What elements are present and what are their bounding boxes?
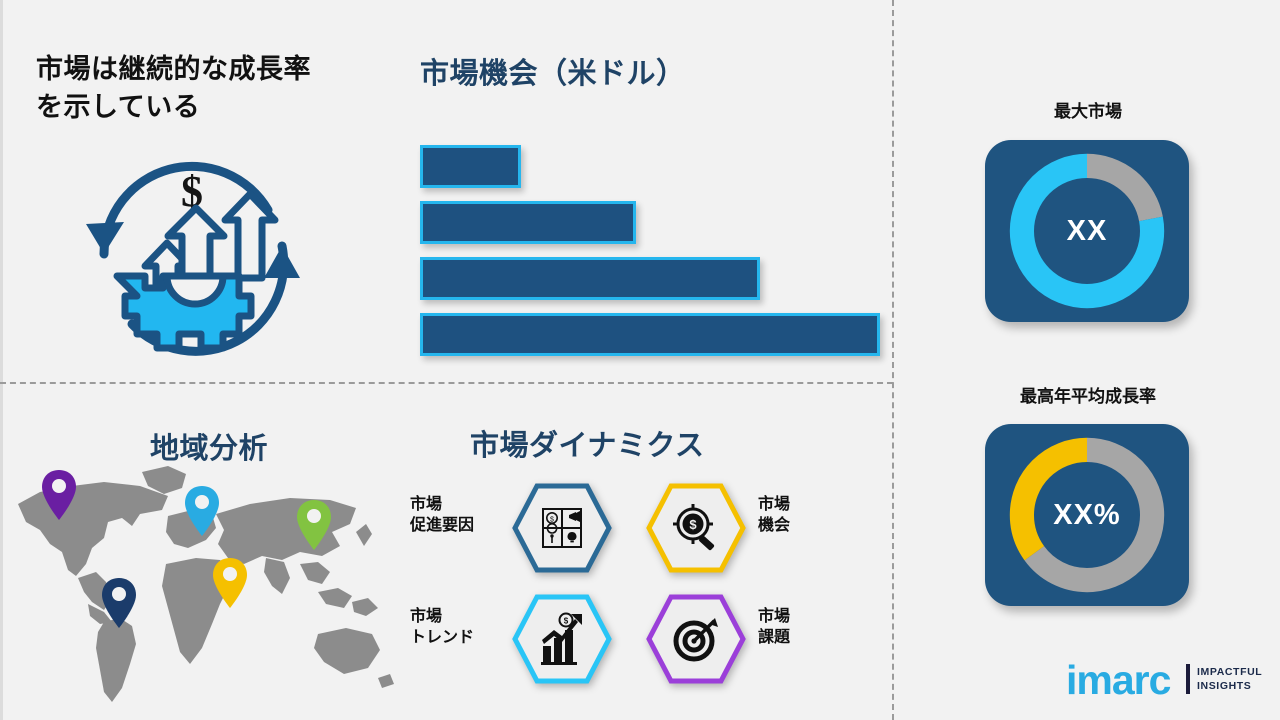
hex-market-opportunities[interactable]: $ [646,483,746,573]
largest-market-title: 最大市場 [938,97,1238,122]
opportunity-heading: 市場機会（米ドル） [420,50,870,92]
svg-text:$: $ [564,617,569,626]
bar-row [420,201,636,244]
growth-heading: 市場は継続的な成長率 を示している [36,50,386,127]
hex-label-market-drivers: 市場 促進要因 [410,495,506,537]
bar-row [420,313,880,356]
bar-row [420,145,521,188]
hex-label-market-challenges: 市場 課題 [758,607,854,649]
hex-market-drivers[interactable]: $ [512,483,612,573]
vertical-dashed-divider [892,0,894,720]
hex-market-trends[interactable]: $ [512,594,612,684]
hex-market-challenges[interactable] [646,594,746,684]
logo-tagline: IMPACTFUL INSIGHTS [1197,665,1262,693]
pin-europe[interactable] [183,484,221,543]
pin-north-america[interactable] [40,468,78,527]
imarc-logo: imarc IMPACTFUL INSIGHTS [1066,660,1266,708]
logo-wordmark: imarc [1066,660,1170,701]
svg-text:$: $ [689,517,697,532]
gear-growth-arrows-icon: $ [72,128,312,368]
hex-label-market-opportunities: 市場 機会 [758,495,854,537]
bar-row [420,257,760,300]
horizontal-dashed-divider [0,382,893,384]
pin-south-america[interactable] [100,576,138,635]
world-map [0,452,400,710]
slide-canvas: 市場は継続的な成長率 を示している $ [0,0,1280,720]
pin-africa[interactable] [211,556,249,615]
highest-cagr-title: 最高年平均成長率 [938,382,1238,407]
svg-text:$: $ [550,516,554,523]
pin-east-asia[interactable] [295,498,333,557]
largest-market-card: XX [985,140,1189,322]
logo-separator-bar [1186,664,1190,694]
dynamics-heading: 市場ダイナミクス [470,422,870,464]
highest-cagr-value: XX% [985,424,1189,606]
hex-label-market-trends: 市場 トレンド [410,607,506,649]
largest-market-value: XX [985,140,1189,322]
market-opportunity-bar-chart [420,145,880,355]
highest-cagr-card: XX% [985,424,1189,606]
